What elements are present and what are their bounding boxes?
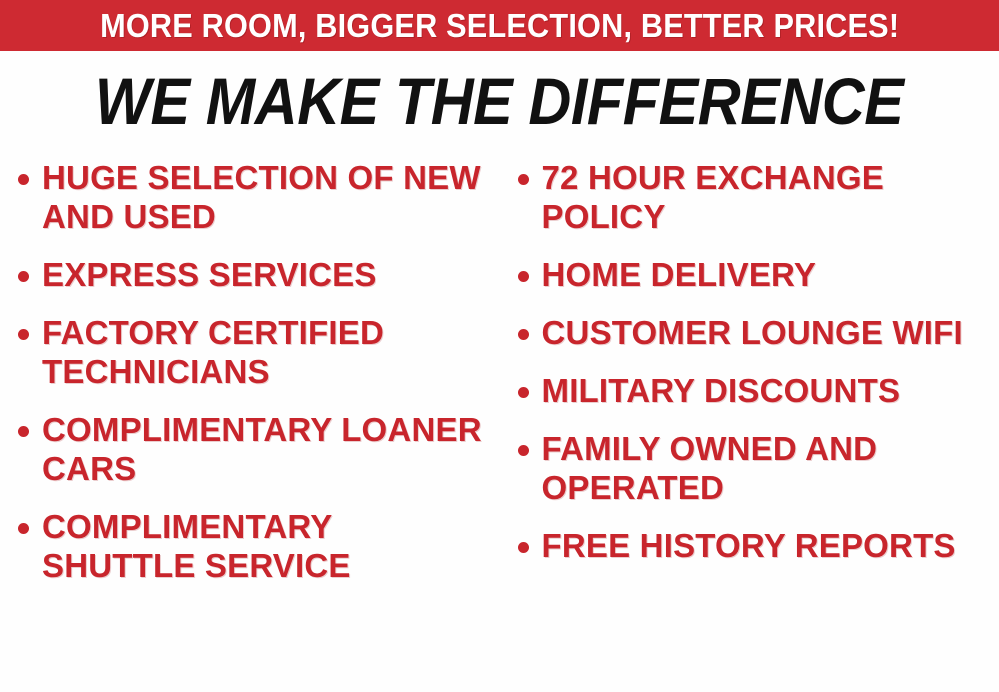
features-column-right: 72 HOUR EXCHANGE POLICY HOME DELIVERY CU…	[500, 158, 999, 584]
list-item: EXPRESS SERVICES	[18, 255, 494, 294]
banner-headline-text: MORE ROOM, BIGGER SELECTION, BETTER PRIC…	[100, 9, 899, 42]
list-item: COMPLIMENTARY SHUTTLE SERVICE	[18, 507, 494, 585]
list-item: FACTORY CERTIFIED TECHNICIANS	[18, 313, 494, 391]
bullet-dot-icon	[518, 387, 529, 398]
page-title: WE MAKE THE DIFFERENCE	[95, 66, 904, 136]
list-item: FAMILY OWNED AND OPERATED	[518, 429, 998, 507]
bullet-dot-icon	[18, 523, 29, 534]
list-item: CUSTOMER LOUNGE WIFI	[518, 313, 998, 352]
bullet-dot-icon	[518, 174, 529, 185]
list-item-label: COMPLIMENTARY LOANER CARS	[42, 410, 494, 488]
headline-container: WE MAKE THE DIFFERENCE	[0, 66, 999, 136]
list-item: COMPLIMENTARY LOANER CARS	[18, 410, 494, 488]
features-columns: HUGE SELECTION OF NEW AND USED EXPRESS S…	[0, 158, 999, 692]
promo-poster: MORE ROOM, BIGGER SELECTION, BETTER PRIC…	[0, 0, 999, 692]
bullet-dot-icon	[18, 329, 29, 340]
top-banner: MORE ROOM, BIGGER SELECTION, BETTER PRIC…	[0, 0, 999, 51]
list-item-label: EXPRESS SERVICES	[42, 255, 377, 294]
list-item: HOME DELIVERY	[518, 255, 998, 294]
list-item-label: CUSTOMER LOUNGE WIFI	[542, 313, 963, 352]
bullet-dot-icon	[518, 271, 529, 282]
list-item: 72 HOUR EXCHANGE POLICY	[518, 158, 998, 236]
bullet-dot-icon	[518, 445, 529, 456]
list-item-label: 72 HOUR EXCHANGE POLICY	[542, 158, 998, 236]
list-item-label: HUGE SELECTION OF NEW AND USED	[42, 158, 494, 236]
list-item: FREE HISTORY REPORTS	[518, 526, 998, 565]
list-item-label: COMPLIMENTARY SHUTTLE SERVICE	[42, 507, 494, 585]
bullet-dot-icon	[518, 329, 529, 340]
bullet-dot-icon	[518, 542, 529, 553]
list-item-label: FACTORY CERTIFIED TECHNICIANS	[42, 313, 494, 391]
list-item: HUGE SELECTION OF NEW AND USED	[18, 158, 494, 236]
list-item-label: MILITARY DISCOUNTS	[542, 371, 901, 410]
bullet-dot-icon	[18, 271, 29, 282]
bullet-dot-icon	[18, 426, 29, 437]
list-item-label: FAMILY OWNED AND OPERATED	[542, 429, 998, 507]
list-item-label: HOME DELIVERY	[542, 255, 817, 294]
bullet-dot-icon	[18, 174, 29, 185]
features-column-left: HUGE SELECTION OF NEW AND USED EXPRESS S…	[0, 158, 500, 604]
list-item: MILITARY DISCOUNTS	[518, 371, 998, 410]
list-item-label: FREE HISTORY REPORTS	[542, 526, 956, 565]
